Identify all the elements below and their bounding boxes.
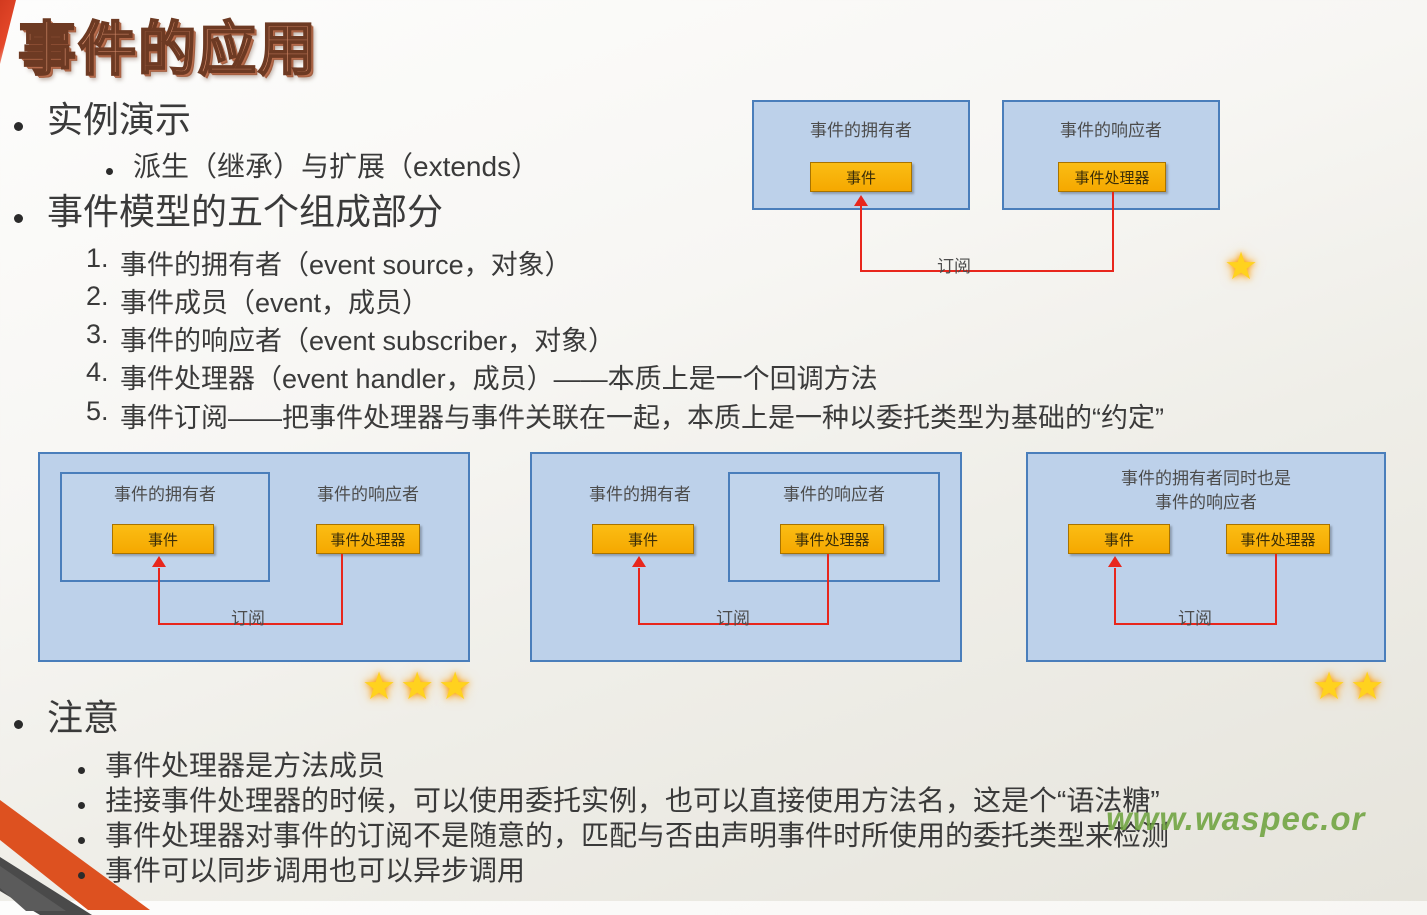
- diagram-4-handler-box: 事件处理器: [1226, 524, 1330, 554]
- diagram-3-link-arrow-icon: [632, 556, 646, 567]
- diagram-3-link-vertical-left: [638, 568, 640, 625]
- diagram-1-star-rating: ★: [1224, 248, 1258, 286]
- diagram-1-handler-box: 事件处理器: [1058, 162, 1166, 192]
- diagram-2-link-arrow-icon: [152, 556, 166, 567]
- list-item-label: 事件成员（event，成员）: [120, 281, 429, 320]
- diagram-2-link-vertical-left: [158, 568, 160, 625]
- diagram-1-subscriber-box: [1002, 100, 1220, 210]
- bullet-demo-label: 实例演示: [47, 100, 191, 140]
- diagram-1-owner-box: [752, 100, 970, 210]
- diagram-2-link-vertical-right: [341, 554, 343, 625]
- list-item-number: 3.: [86, 319, 120, 350]
- note-item-label: 挂接事件处理器的时候，可以使用委托实例，也可以直接使用方法名，这是个“语法糖”: [105, 786, 1160, 817]
- diagram-1-owner-label: 事件的拥有者: [752, 120, 970, 141]
- diagram-3-link-label: 订阅: [716, 604, 750, 629]
- list-item-label: 事件的拥有者（event source，对象）: [120, 243, 572, 282]
- diagram-3-event-box: 事件: [592, 524, 694, 554]
- top-left-red-accent: [0, 0, 16, 64]
- diagram-4-link-vertical-left: [1114, 568, 1116, 625]
- list-item-number: 1.: [86, 243, 120, 274]
- bullet-event-model: 事件模型的五个组成部分: [14, 192, 443, 232]
- diagram-1-event-box: 事件: [810, 162, 912, 192]
- diagram-1-link-vertical-right: [1112, 192, 1114, 272]
- bullet-demo: 实例演示: [14, 100, 191, 140]
- note-item-label: 事件处理器对事件的订阅不是随意的，匹配与否由声明事件时所使用的委托类型来检测: [105, 821, 1169, 852]
- diagram-4-combined-label-line1: 事件的拥有者同时也是: [1026, 468, 1386, 489]
- list-item-number: 5.: [86, 396, 120, 427]
- diagram-3-owner-label: 事件的拥有者: [550, 484, 730, 505]
- diagram-1-link-label: 订阅: [937, 252, 971, 277]
- note-item-label: 事件处理器是方法成员: [105, 751, 385, 782]
- note-item: 事件处理器是方法成员: [78, 751, 385, 782]
- bullet-dot-icon: [78, 802, 85, 809]
- diagram-2-event-box: 事件: [112, 524, 214, 554]
- diagram-2-handler-box: 事件处理器: [316, 524, 420, 554]
- bullet-demo-sub-label: 派生（继承）与扩展（extends）: [133, 152, 539, 183]
- bullet-dot-icon: [78, 767, 85, 774]
- list-item: 2. 事件成员（event，成员）: [86, 281, 429, 320]
- note-item: 挂接事件处理器的时候，可以使用委托实例，也可以直接使用方法名，这是个“语法糖”: [78, 786, 1160, 817]
- diagram-2-subscriber-label: 事件的响应者: [288, 484, 448, 505]
- bullet-dot-icon: [14, 122, 23, 131]
- diagram-3-link-vertical-right: [827, 554, 829, 625]
- diagram-4-link-label: 订阅: [1178, 604, 1212, 629]
- diagram-2-owner-label: 事件的拥有者: [60, 484, 270, 505]
- diagram-3: 事件的拥有者 事件 事件的响应者 事件处理器 订阅: [530, 452, 962, 662]
- bullet-demo-sub: 派生（继承）与扩展（extends）: [106, 152, 539, 183]
- list-item-label: 事件的响应者（event subscriber，对象）: [120, 319, 615, 358]
- bullet-dot-icon: [78, 837, 85, 844]
- list-item: 5. 事件订阅——把事件处理器与事件关联在一起，本质上是一种以委托类型为基础的“…: [86, 396, 1164, 435]
- diagram-2: 事件的拥有者 事件 事件的响应者 事件处理器 订阅: [38, 452, 470, 662]
- bullet-dot-icon: [106, 168, 113, 175]
- list-item: 1. 事件的拥有者（event source，对象）: [86, 243, 572, 282]
- diagram-2-star-rating: ★★★: [362, 668, 476, 706]
- diagram-1-link-vertical-left: [860, 206, 862, 272]
- list-item: 4. 事件处理器（event handler，成员）——本质上是一个回调方法: [86, 357, 878, 396]
- site-watermark: www.waspec.or: [1106, 800, 1427, 838]
- list-item-number: 2.: [86, 281, 120, 312]
- page-title: 事件的应用: [18, 2, 318, 86]
- list-item-number: 4.: [86, 357, 120, 388]
- diagram-4-link-arrow-icon: [1108, 556, 1122, 567]
- list-item-label: 事件订阅——把事件处理器与事件关联在一起，本质上是一种以委托类型为基础的“约定”: [120, 396, 1164, 435]
- diagram-3-handler-box: 事件处理器: [780, 524, 884, 554]
- diagram-1-link-arrow-icon: [854, 195, 868, 206]
- bullet-notes: 注意: [14, 698, 119, 738]
- bullet-dot-icon: [78, 872, 85, 879]
- diagram-1-link-horizontal: [860, 270, 1114, 272]
- diagram-4-combined-label-line2: 事件的响应者: [1026, 492, 1386, 513]
- diagram-2-link-label: 订阅: [231, 604, 265, 629]
- list-item-label: 事件处理器（event handler，成员）——本质上是一个回调方法: [120, 357, 878, 396]
- list-item: 3. 事件的响应者（event subscriber，对象）: [86, 319, 615, 358]
- note-item-label: 事件可以同步调用也可以异步调用: [105, 856, 525, 887]
- note-item: 事件处理器对事件的订阅不是随意的，匹配与否由声明事件时所使用的委托类型来检测: [78, 821, 1169, 852]
- diagram-4: 事件的拥有者同时也是 事件的响应者 事件 事件处理器 订阅: [1026, 452, 1386, 662]
- diagram-1-subscriber-label: 事件的响应者: [1002, 120, 1220, 141]
- bullet-event-model-label: 事件模型的五个组成部分: [47, 192, 443, 232]
- diagram-1: 事件的拥有者 事件 事件的响应者 事件处理器 订阅: [752, 100, 1232, 290]
- diagram-4-event-box: 事件: [1068, 524, 1170, 554]
- bullet-dot-icon: [14, 720, 23, 729]
- diagram-4-star-rating: ★★: [1312, 668, 1388, 706]
- bullet-notes-label: 注意: [47, 698, 119, 738]
- diagram-3-subscriber-label: 事件的响应者: [728, 484, 940, 505]
- diagram-4-link-vertical-right: [1275, 554, 1277, 625]
- note-item: 事件可以同步调用也可以异步调用: [78, 856, 525, 887]
- bullet-dot-icon: [14, 214, 23, 223]
